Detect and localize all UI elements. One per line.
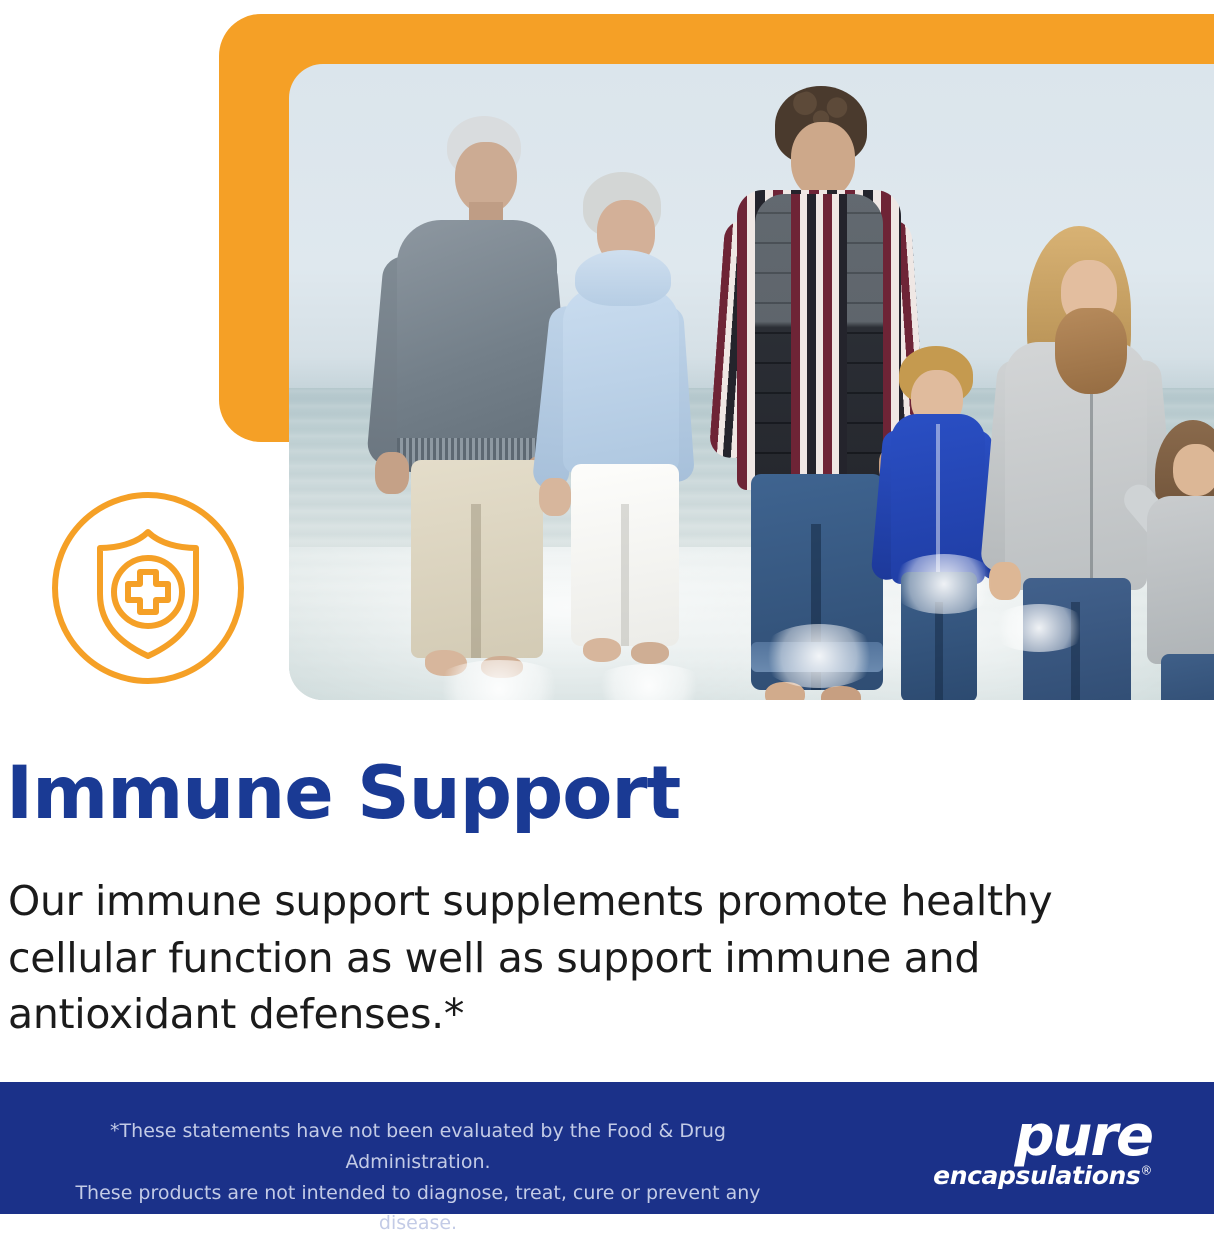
person-young-boy xyxy=(877,346,1001,700)
blue-jeans xyxy=(901,572,977,700)
hero-photo xyxy=(289,64,1214,700)
blue-hoodie xyxy=(891,414,985,584)
registered-mark-icon: ® xyxy=(1140,1164,1152,1178)
khaki-trousers xyxy=(411,460,543,658)
face xyxy=(791,122,855,198)
disclaimer-text: *These statements have not been evaluate… xyxy=(38,1116,798,1239)
foot-right xyxy=(821,686,861,700)
face xyxy=(1173,444,1214,496)
tan-scarf xyxy=(1055,308,1127,394)
person-young-girl xyxy=(1137,420,1214,700)
foot-right xyxy=(481,656,523,678)
brand-logo: pure encapsulations® xyxy=(932,1110,1152,1190)
blue-jeans xyxy=(1161,654,1214,700)
logo-secondary-word: encapsulations xyxy=(933,1161,1140,1190)
foot-left xyxy=(765,682,805,700)
foot-right xyxy=(631,642,669,664)
logo-secondary-text: encapsulations® xyxy=(932,1163,1152,1189)
hand-left xyxy=(989,562,1021,600)
quilted-vest xyxy=(755,194,883,484)
white-trousers xyxy=(571,464,679,646)
blue-jeans xyxy=(1023,578,1131,700)
gray-jacket xyxy=(1147,496,1214,664)
page-description: Our immune support supplements promote h… xyxy=(8,873,1098,1043)
logo-primary-text: pure xyxy=(932,1110,1152,1163)
page-title: Immune Support xyxy=(6,757,680,830)
hand-left xyxy=(375,452,409,494)
hand-left xyxy=(539,478,571,516)
beach-scene-image xyxy=(289,64,1214,700)
disclaimer-line-2: These products are not intended to diagn… xyxy=(38,1178,798,1239)
blue-sweater xyxy=(563,288,679,474)
shield-health-icon xyxy=(50,490,246,686)
footer-bar: *These statements have not been evaluate… xyxy=(0,1082,1214,1214)
cowl-neck xyxy=(575,250,671,306)
foot-left xyxy=(583,638,621,662)
jeans-cuff xyxy=(751,642,883,672)
disclaimer-line-1: *These statements have not been evaluate… xyxy=(38,1116,798,1178)
person-senior-woman xyxy=(527,172,703,672)
foot-left xyxy=(425,650,467,676)
